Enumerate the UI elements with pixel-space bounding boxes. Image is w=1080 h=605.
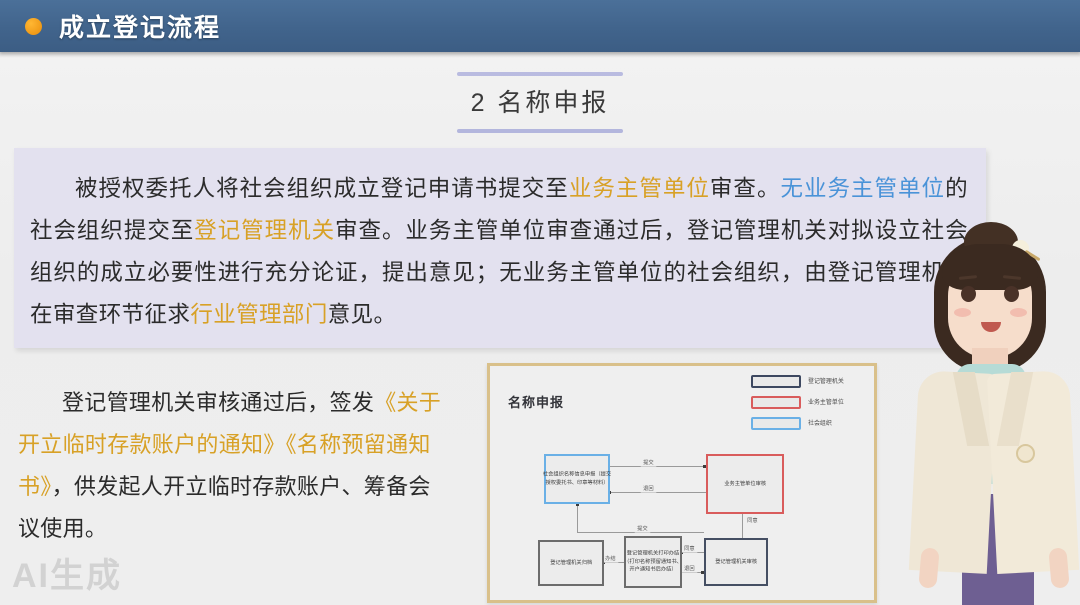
node-label-registry-review: 登记管理机关审核 <box>715 558 757 566</box>
edge-label-agree-1: 同意 <box>745 517 760 524</box>
legend-item-business: 业务主管单位 <box>751 394 866 411</box>
legend-item-registry: 登记管理机关 <box>751 373 866 390</box>
edge-label-complete: 办结 <box>603 555 618 562</box>
edge-apply-biz <box>610 466 706 467</box>
secondary-paragraph-body: 登记管理机关审核通过后，签发《关于开立临时存款账户的通知》《名称预留通知书》，供… <box>18 382 448 550</box>
legend-swatch-sky <box>751 417 801 430</box>
avatar-blush-left <box>954 308 971 317</box>
legend-swatch-navy <box>751 375 801 388</box>
avatar-hand-left <box>918 547 939 588</box>
node-label-business-review: 业务主管单位审核 <box>724 480 766 488</box>
seg-3-blue: 无业务主管单位 <box>780 176 945 201</box>
legend-label-organization: 社会组织 <box>808 419 832 427</box>
legend-label-registry: 登记管理机关 <box>808 377 844 385</box>
edge-apply-reg-v <box>577 504 578 532</box>
flow-diagram-panel: 名称申报 登记管理机关 业务主管单位 社会组织 提交 退回 提交 <box>487 363 877 603</box>
avatar-jacket-left <box>909 370 997 574</box>
bullet-icon <box>25 18 42 35</box>
node-label-apply: 社会组织名称信息申报（提交授权委托书、印章等材料） <box>542 471 613 487</box>
slide-canvas: 成立登记流程 2 名称申报 被授权委托人将社会组织成立登记申请书提交至业务主管单… <box>0 0 1080 605</box>
secondary-paragraph: 登记管理机关审核通过后，签发《关于开立临时存款账户的通知》《名称预留通知书》，供… <box>18 382 448 550</box>
diagram-node-business-review: 业务主管单位审核 <box>706 454 784 514</box>
diagram-node-print-complete: 登记管理机关打印办结（打印名称预留通知书、开户通知书后办结） <box>624 536 682 588</box>
slide-header: 成立登记流程 <box>0 0 1080 52</box>
edge-label-return-1: 退回 <box>641 485 656 492</box>
avatar-badge-icon <box>1016 444 1035 463</box>
seg-1-gold: 业务主管单位 <box>569 176 710 201</box>
diagram-node-apply: 社会组织名称信息申报（提交授权委托书、印章等材料） <box>544 454 610 504</box>
seg-7-gold: 行业管理部门 <box>190 302 327 327</box>
edge-biz-apply <box>610 492 706 493</box>
edge-label-agree-2: 同意 <box>682 545 697 552</box>
page-title: 成立登记流程 <box>59 8 221 44</box>
lseg-2: ，供发起人开立临时存款账户、筹备会议使用。 <box>18 474 431 541</box>
highlight-paragraph-card: 被授权委托人将社会组织成立登记申请书提交至业务主管单位审查。无业务主管单位的社会… <box>14 148 986 348</box>
paragraph-body: 被授权委托人将社会组织成立登记申请书提交至业务主管单位审查。无业务主管单位的社会… <box>14 148 986 336</box>
node-label-archive: 登记管理机关归档 <box>550 559 592 567</box>
diagram-legend: 登记管理机关 业务主管单位 社会组织 <box>751 373 866 436</box>
diagram-node-registry-review: 登记管理机关审核 <box>704 538 768 586</box>
lseg-0: 登记管理机关审核通过后，签发 <box>62 390 374 415</box>
avatar-hand-right <box>1048 547 1069 588</box>
diagram-node-archive: 登记管理机关归档 <box>538 540 604 586</box>
diagram-title: 名称申报 <box>508 392 564 411</box>
avatar-jacket-right <box>987 370 1079 574</box>
section-title-group: 2 名称申报 <box>0 72 1080 133</box>
virtual-presenter-avatar <box>900 222 1080 605</box>
ai-generated-watermark: AI生成 <box>12 548 122 597</box>
avatar-hair-fringe <box>942 244 1038 290</box>
avatar-eye-right <box>1004 286 1019 302</box>
section-title: 2 名称申报 <box>455 76 626 124</box>
edge-label-return-2: 退回 <box>682 565 697 572</box>
seg-2: 审查。 <box>710 176 781 201</box>
edge-biz-reg <box>742 514 743 538</box>
legend-item-organization: 社会组织 <box>751 415 866 432</box>
avatar-eye-left <box>961 286 976 302</box>
legend-swatch-red <box>751 396 801 409</box>
seg-5-gold: 登记管理机关 <box>194 218 335 243</box>
edge-label-submit-2: 提交 <box>635 525 650 532</box>
seg-8: 意见。 <box>328 302 397 327</box>
header-shadow <box>0 52 1080 58</box>
node-label-print-complete: 登记管理机关打印办结（打印名称预留通知书、开户通知书后办结） <box>623 550 684 574</box>
avatar-blush-right <box>1010 308 1027 317</box>
edge-label-submit-1: 提交 <box>641 459 656 466</box>
legend-label-business: 业务主管单位 <box>808 398 844 406</box>
section-rule-bottom <box>457 129 623 133</box>
seg-0: 被授权委托人将社会组织成立登记申请书提交至 <box>75 176 569 201</box>
